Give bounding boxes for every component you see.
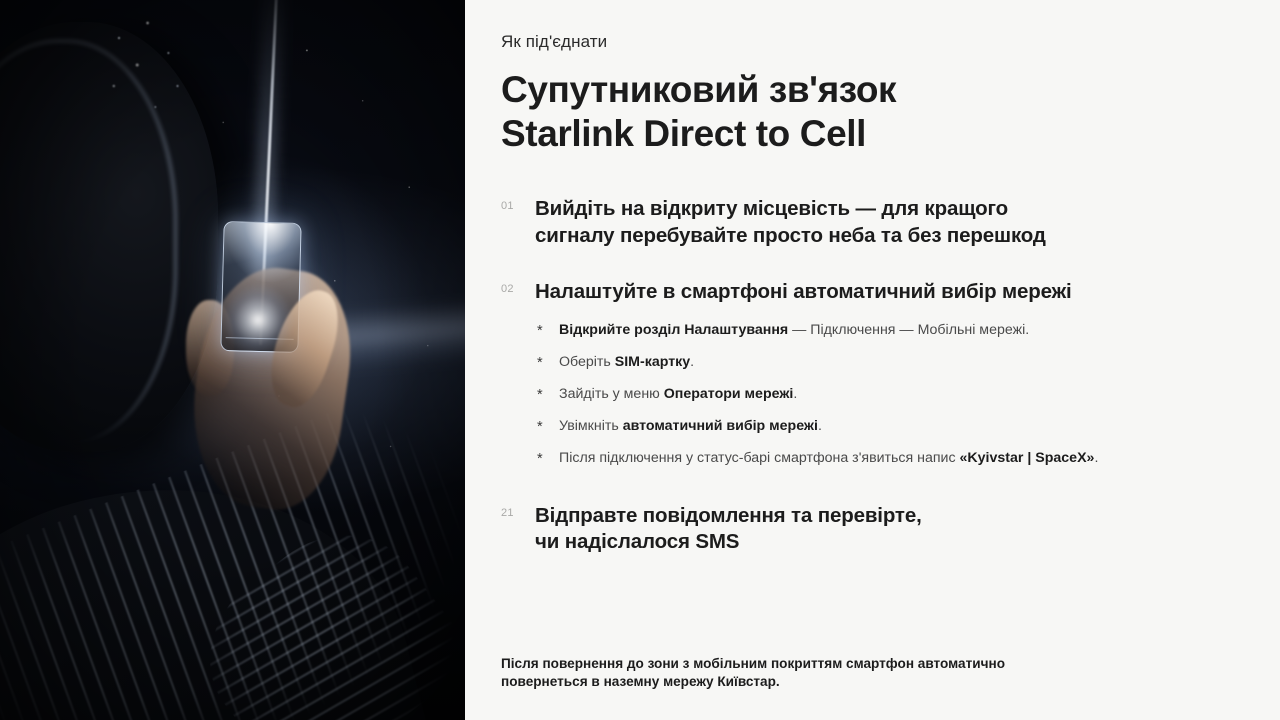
footnote-line-1: Після повернення до зони з мобільним пок…	[501, 655, 1201, 674]
page-title-line-2: Starlink Direct to Cell	[501, 112, 1236, 156]
bullet-text-3: Зайдіть у меню Оператори мережі.	[559, 386, 797, 404]
step-1-line-1: Вийдіть на відкриту місцевість — для кра…	[535, 196, 1046, 223]
footnote-line-2: повернеться в наземну мережу Київстар.	[501, 673, 1201, 692]
step-number-3: 21	[501, 503, 535, 519]
asterisk-icon: *	[537, 322, 559, 340]
page-title: Супутниковий зв'язок Starlink Direct to …	[501, 68, 1236, 156]
step-3-line-2: чи надіслалося SMS	[535, 529, 922, 556]
bullet-text-5: Після підключення у статус-барі смартфон…	[559, 450, 1098, 468]
bullet-text-4: Увімкніть автоматичний вибір мережі.	[559, 418, 822, 436]
list-item: * Після підключення у статус-барі смартф…	[537, 450, 1236, 468]
eyebrow-label: Як під'єднати	[501, 32, 1236, 52]
list-item: * Оберіть SIM-картку.	[537, 354, 1236, 372]
step-1-line-2: сигналу перебувайте просто неба та без п…	[535, 223, 1046, 250]
step-2-bullet-list: * Відкрийте розділ Налаштування — Підклю…	[537, 322, 1236, 469]
step-item-1: 01 Вийдіть на відкриту місцевість — для …	[501, 196, 1236, 249]
step-item-2: 02 Налаштуйте в смартфоні автоматичний в…	[501, 279, 1236, 306]
slide: Як під'єднати Супутниковий зв'язок Starl…	[0, 0, 1280, 720]
hero-photo-panel	[0, 0, 465, 720]
step-item-3: 21 Відправте повідомлення та перевірте, …	[501, 503, 1236, 556]
photo-vignette	[0, 0, 465, 720]
step-text-3: Відправте повідомлення та перевірте, чи …	[535, 503, 922, 556]
list-item: * Увімкніть автоматичний вибір мережі.	[537, 418, 1236, 436]
asterisk-icon: *	[537, 450, 559, 468]
page-title-line-1: Супутниковий зв'язок	[501, 68, 1236, 112]
asterisk-icon: *	[537, 386, 559, 404]
footnote: Після повернення до зони з мобільним пок…	[501, 655, 1201, 693]
steps-list: 01 Вийдіть на відкриту місцевість — для …	[501, 196, 1236, 556]
step-2-line-1: Налаштуйте в смартфоні автоматичний вибі…	[535, 279, 1072, 306]
content-panel: Як під'єднати Супутниковий зв'язок Starl…	[465, 0, 1280, 720]
step-number-2: 02	[501, 279, 535, 295]
asterisk-icon: *	[537, 354, 559, 372]
bullet-text-1: Відкрийте розділ Налаштування — Підключе…	[559, 322, 1029, 340]
list-item: * Зайдіть у меню Оператори мережі.	[537, 386, 1236, 404]
step-text-1: Вийдіть на відкриту місцевість — для кра…	[535, 196, 1046, 249]
bullet-text-2: Оберіть SIM-картку.	[559, 354, 694, 372]
step-text-2: Налаштуйте в смартфоні автоматичний вибі…	[535, 279, 1072, 306]
step-number-1: 01	[501, 196, 535, 212]
list-item: * Відкрийте розділ Налаштування — Підклю…	[537, 322, 1236, 340]
step-3-line-1: Відправте повідомлення та перевірте,	[535, 503, 922, 530]
asterisk-icon: *	[537, 418, 559, 436]
